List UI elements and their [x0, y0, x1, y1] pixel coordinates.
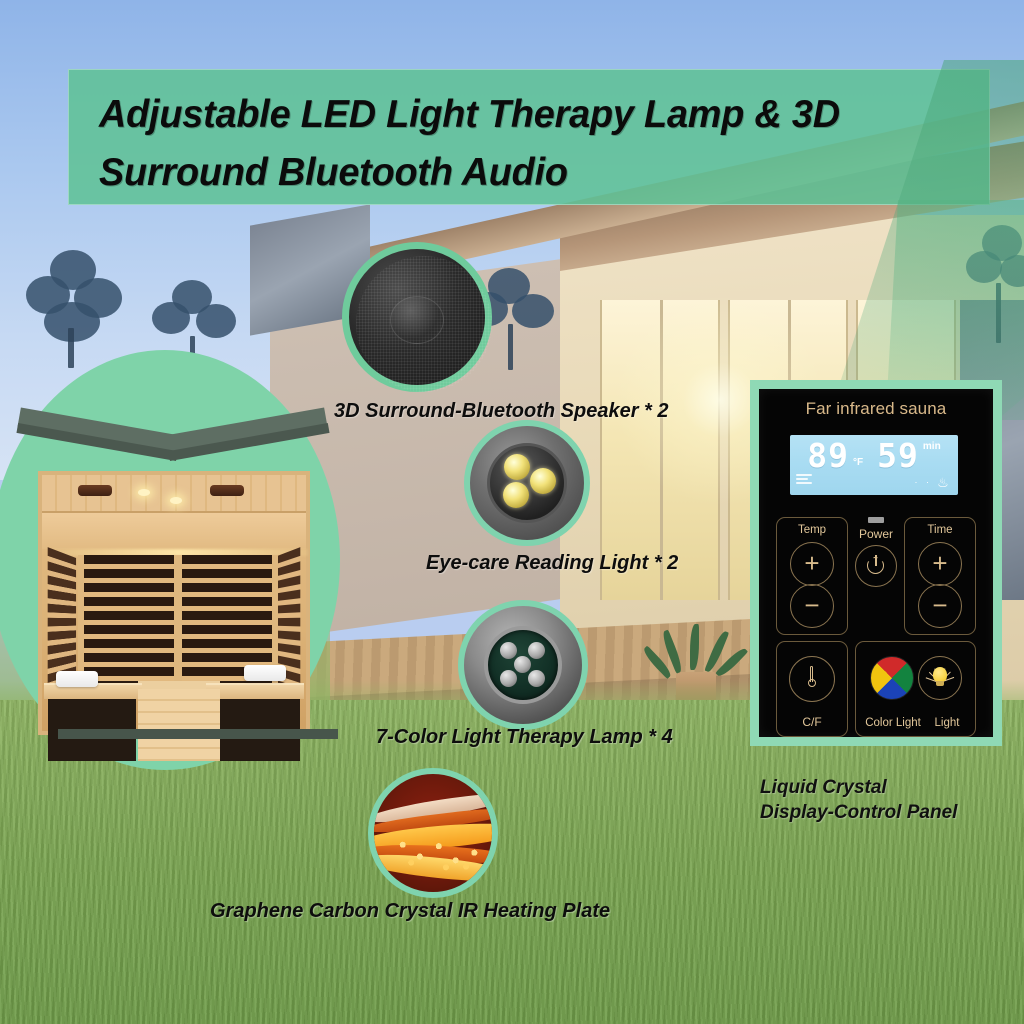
color-wheel-icon[interactable] — [870, 656, 914, 700]
lcd-indicator-dots: · · — [915, 477, 933, 487]
lcd-readout-row: 89 °F 59 min — [790, 439, 958, 473]
caption-line-1: Liquid Crystal — [760, 775, 1024, 800]
led-emitter — [514, 656, 531, 673]
lcd-control-panel[interactable]: Far infrared sauna 89 °F 59 min · · ♨ Te… — [750, 380, 1002, 746]
lcd-heat-wave-icon — [796, 474, 814, 488]
led-emitter — [503, 482, 529, 508]
control-panel-caption: Liquid Crystal Display-Control Panel — [760, 775, 1024, 825]
temp-increase-button[interactable]: + — [790, 542, 834, 586]
lights-control-group: Color Light Light — [855, 641, 976, 737]
ceiling-heater — [210, 485, 244, 496]
feature-label-reading-light: Eye-care Reading Light * 2 — [426, 552, 678, 575]
towel — [244, 665, 286, 681]
speaker-dome — [390, 296, 444, 344]
potted-plant — [660, 620, 732, 678]
heat-layers-icon — [368, 768, 498, 898]
sauna-cabin-image — [18, 435, 328, 735]
temp-label: Temp — [777, 518, 847, 536]
therapy-lamp-housing — [484, 626, 562, 704]
power-control-group: Power — [844, 517, 908, 587]
light-bulb-icon[interactable] — [918, 656, 962, 700]
thermometer-glyph — [808, 666, 816, 688]
cf-label: C/F — [777, 715, 847, 729]
speaker-icon — [342, 242, 492, 392]
led-emitter — [500, 670, 517, 687]
power-button[interactable] — [855, 545, 897, 587]
bulb-base — [936, 681, 944, 686]
lcd-temperature-value: 89 — [807, 439, 849, 473]
led-emitter — [528, 670, 545, 687]
led-emitter — [504, 454, 530, 480]
feature-label-heating-plate: Graphene Carbon Crystal IR Heating Plate — [210, 900, 610, 923]
power-icon-bar — [875, 555, 877, 566]
feature-label-speaker: 3D Surround-Bluetooth Speaker * 2 — [334, 400, 669, 423]
ceiling-heater — [78, 485, 112, 496]
ceiling-led-icon — [170, 497, 182, 504]
title-banner: Adjustable LED Light Therapy Lamp & 3D S… — [68, 69, 990, 205]
power-label: Power — [844, 527, 908, 541]
sauna-base — [58, 729, 338, 739]
power-indicator-led — [868, 517, 884, 523]
sauna-floor — [138, 689, 220, 761]
lcd-time-value: 59 — [877, 439, 919, 473]
towel — [56, 671, 98, 687]
sauna-ceiling — [42, 475, 306, 513]
led-therapy-lamp-icon — [458, 600, 588, 730]
ceiling-led-icon — [138, 489, 150, 496]
lcd-display: 89 °F 59 min · · ♨ — [790, 435, 958, 495]
lcd-time-unit: min — [923, 439, 941, 457]
led-emitter — [500, 642, 517, 659]
sauna-interior — [38, 471, 310, 735]
title-line-2: Surround Bluetooth Audio — [99, 144, 962, 202]
led-emitter — [530, 468, 556, 494]
time-label: Time — [905, 518, 975, 536]
tree-silhouette — [20, 250, 130, 370]
bulb-glass — [933, 667, 947, 682]
led-emitter — [528, 642, 545, 659]
thermometer-icon[interactable] — [789, 656, 835, 702]
spotlight-housing — [487, 443, 567, 523]
temp-control-group: Temp + − — [776, 517, 848, 635]
time-control-group: Time + − — [904, 517, 976, 635]
led-spotlight-icon — [464, 420, 590, 546]
control-panel-face: Far infrared sauna 89 °F 59 min · · ♨ Te… — [759, 389, 993, 737]
caption-line-2: Display-Control Panel — [760, 800, 1024, 825]
tree-silhouette — [966, 225, 1024, 365]
time-increase-button[interactable]: + — [918, 542, 962, 586]
title-line-1: Adjustable LED Light Therapy Lamp & 3D — [99, 86, 962, 144]
temp-decrease-button[interactable]: − — [790, 584, 834, 628]
light-label: Light — [921, 717, 973, 729]
lcd-temperature-unit: °F — [853, 457, 863, 473]
control-panel-title: Far infrared sauna — [759, 389, 993, 419]
cf-toggle-group[interactable]: C/F — [776, 641, 848, 737]
sauna-bench-right — [206, 683, 304, 699]
color-light-label: Color Light — [860, 717, 926, 729]
time-decrease-button[interactable]: − — [918, 584, 962, 628]
feature-label-color-lamp: 7-Color Light Therapy Lamp * 4 — [376, 726, 673, 749]
sauna-upper-wall — [42, 513, 306, 549]
lcd-steam-icon: ♨ — [936, 475, 950, 490]
